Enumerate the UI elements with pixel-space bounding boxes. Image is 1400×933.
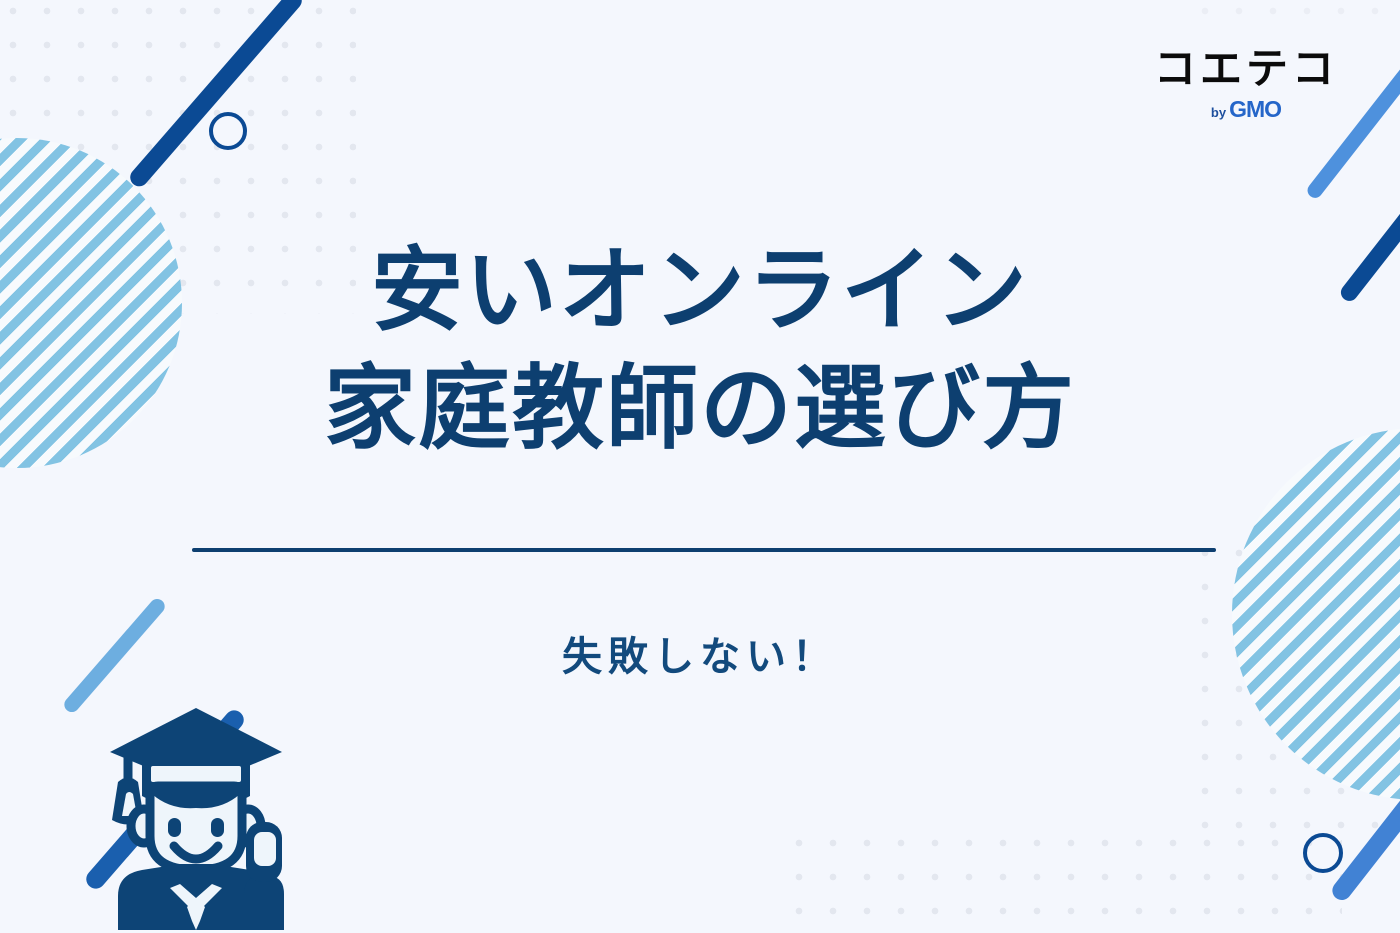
brand-logo: コエテコ by GMO xyxy=(1154,48,1338,121)
logo-by-text: by xyxy=(1211,105,1226,120)
diagonal-stroke-right-mid xyxy=(1329,695,1400,904)
page-title: 安いオンライン 家庭教師の選び方 xyxy=(0,232,1400,468)
poster-canvas: コエテコ by GMO 安いオンライン 家庭教師の選び方 失敗しない！ xyxy=(0,0,1400,933)
title-divider xyxy=(192,548,1216,552)
circle-outline-bottom-right xyxy=(1303,833,1343,873)
logo-byline: by GMO xyxy=(1211,98,1281,121)
page-title-line-1: 安いオンライン xyxy=(0,232,1400,350)
logo-wordmark: コエテコ xyxy=(1154,48,1338,90)
dot-pattern-bottom-right xyxy=(782,826,1342,933)
dot-pattern-top-right xyxy=(1188,0,1400,34)
page-title-line-2: 家庭教師の選び方 xyxy=(0,350,1400,468)
diagonal-stroke-top-left xyxy=(127,0,306,190)
graduate-student-icon xyxy=(96,690,296,930)
page-subtitle: 失敗しない！ xyxy=(0,624,1400,682)
striped-circle-right xyxy=(1232,428,1400,800)
dot-pattern-right xyxy=(1188,536,1400,836)
logo-gmo-text: GMO xyxy=(1229,98,1281,121)
circle-outline-top-left xyxy=(209,112,247,150)
